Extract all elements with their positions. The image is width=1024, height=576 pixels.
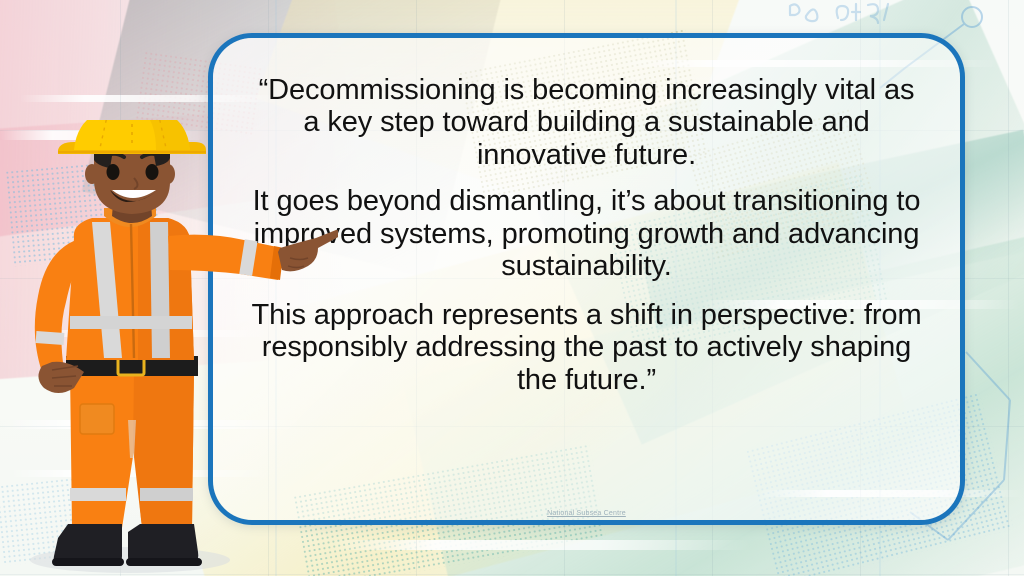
trousers — [70, 370, 194, 528]
reflective-band — [70, 488, 126, 501]
quote-paragraph-3: This approach represents a shift in pers… — [247, 299, 926, 396]
quote-paragraph-2: It goes beyond dismantling, it’s about t… — [247, 185, 926, 282]
reflective-band — [70, 316, 192, 329]
eye-left — [107, 164, 120, 180]
right-arm-pointing — [168, 230, 338, 280]
reflective-band — [140, 488, 193, 501]
worker-illustration — [18, 120, 338, 576]
hi-vis-jacket — [66, 208, 194, 360]
leg-pocket — [80, 404, 114, 434]
hard-hat — [58, 120, 206, 154]
slide-canvas: “Decommissioning is becoming increasingl… — [0, 0, 1024, 576]
pointing-hand — [278, 230, 338, 271]
reflective-band — [36, 331, 65, 345]
boots — [52, 524, 202, 566]
quote-paragraph-1: “Decommissioning is becoming increasingl… — [247, 74, 926, 171]
eye-right — [146, 164, 159, 180]
